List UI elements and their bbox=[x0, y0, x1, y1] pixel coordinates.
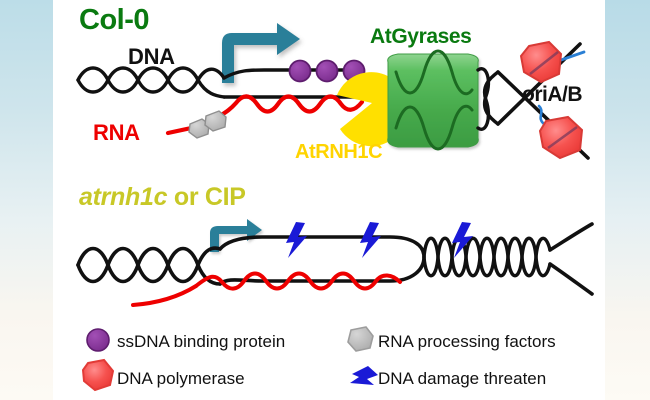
dna-duplex-left bbox=[78, 68, 224, 97]
atgyrases-complex bbox=[388, 54, 479, 147]
legend-damage-icon bbox=[350, 366, 378, 385]
label-atgyrases: AtGyrases bbox=[370, 26, 471, 47]
label-rna: RNA bbox=[93, 122, 140, 144]
dna-polymerase-lower bbox=[540, 117, 582, 158]
legend-label-polymerase: DNA polymerase bbox=[117, 370, 245, 387]
label-oriab: oriA/B bbox=[522, 84, 582, 105]
lightning-bolt-1 bbox=[286, 222, 307, 258]
legend-polymerase-icon bbox=[83, 360, 113, 390]
panel-title-mutant: atrnh1c or CIP bbox=[79, 185, 246, 210]
rna-processing-factor-2 bbox=[205, 111, 226, 131]
legend-ssdna-icon bbox=[87, 329, 109, 351]
lightning-bolt-2 bbox=[360, 222, 381, 258]
bottom-fork-arm-upper bbox=[550, 224, 592, 250]
ssdna-binding-protein-1 bbox=[290, 61, 311, 82]
dna-duplex-right-of-gyrase bbox=[478, 69, 498, 130]
legend-label-ssdna: ssDNA binding protein bbox=[117, 333, 285, 350]
label-atrnh1c: AtRNH1C bbox=[295, 142, 382, 162]
bottom-fork-arm-lower bbox=[550, 264, 592, 294]
panel-title-col0: Col-0 bbox=[79, 6, 149, 35]
mutant-title-rest: or CIP bbox=[167, 183, 245, 211]
mutant-gene-name: atrnh1c bbox=[79, 183, 167, 211]
rna-wavy-top bbox=[214, 96, 362, 120]
legend-label-damage: DNA damage threaten bbox=[378, 370, 546, 387]
supercoiled-dna-region bbox=[424, 238, 550, 276]
legend-rna-processing-icon bbox=[348, 327, 373, 351]
legend-label-rna-processing: RNA processing factors bbox=[378, 333, 556, 350]
label-dna: DNA bbox=[128, 46, 175, 68]
dna-polymerase-upper bbox=[521, 42, 561, 82]
ssdna-binding-protein-2 bbox=[317, 61, 338, 82]
figure-canvas: Col-0 DNA RNA AtGyrases AtRNH1C oriA/B a… bbox=[0, 0, 650, 400]
dna-duplex-bottom-left bbox=[78, 248, 220, 284]
rna-bottom-lead-in bbox=[133, 286, 196, 305]
